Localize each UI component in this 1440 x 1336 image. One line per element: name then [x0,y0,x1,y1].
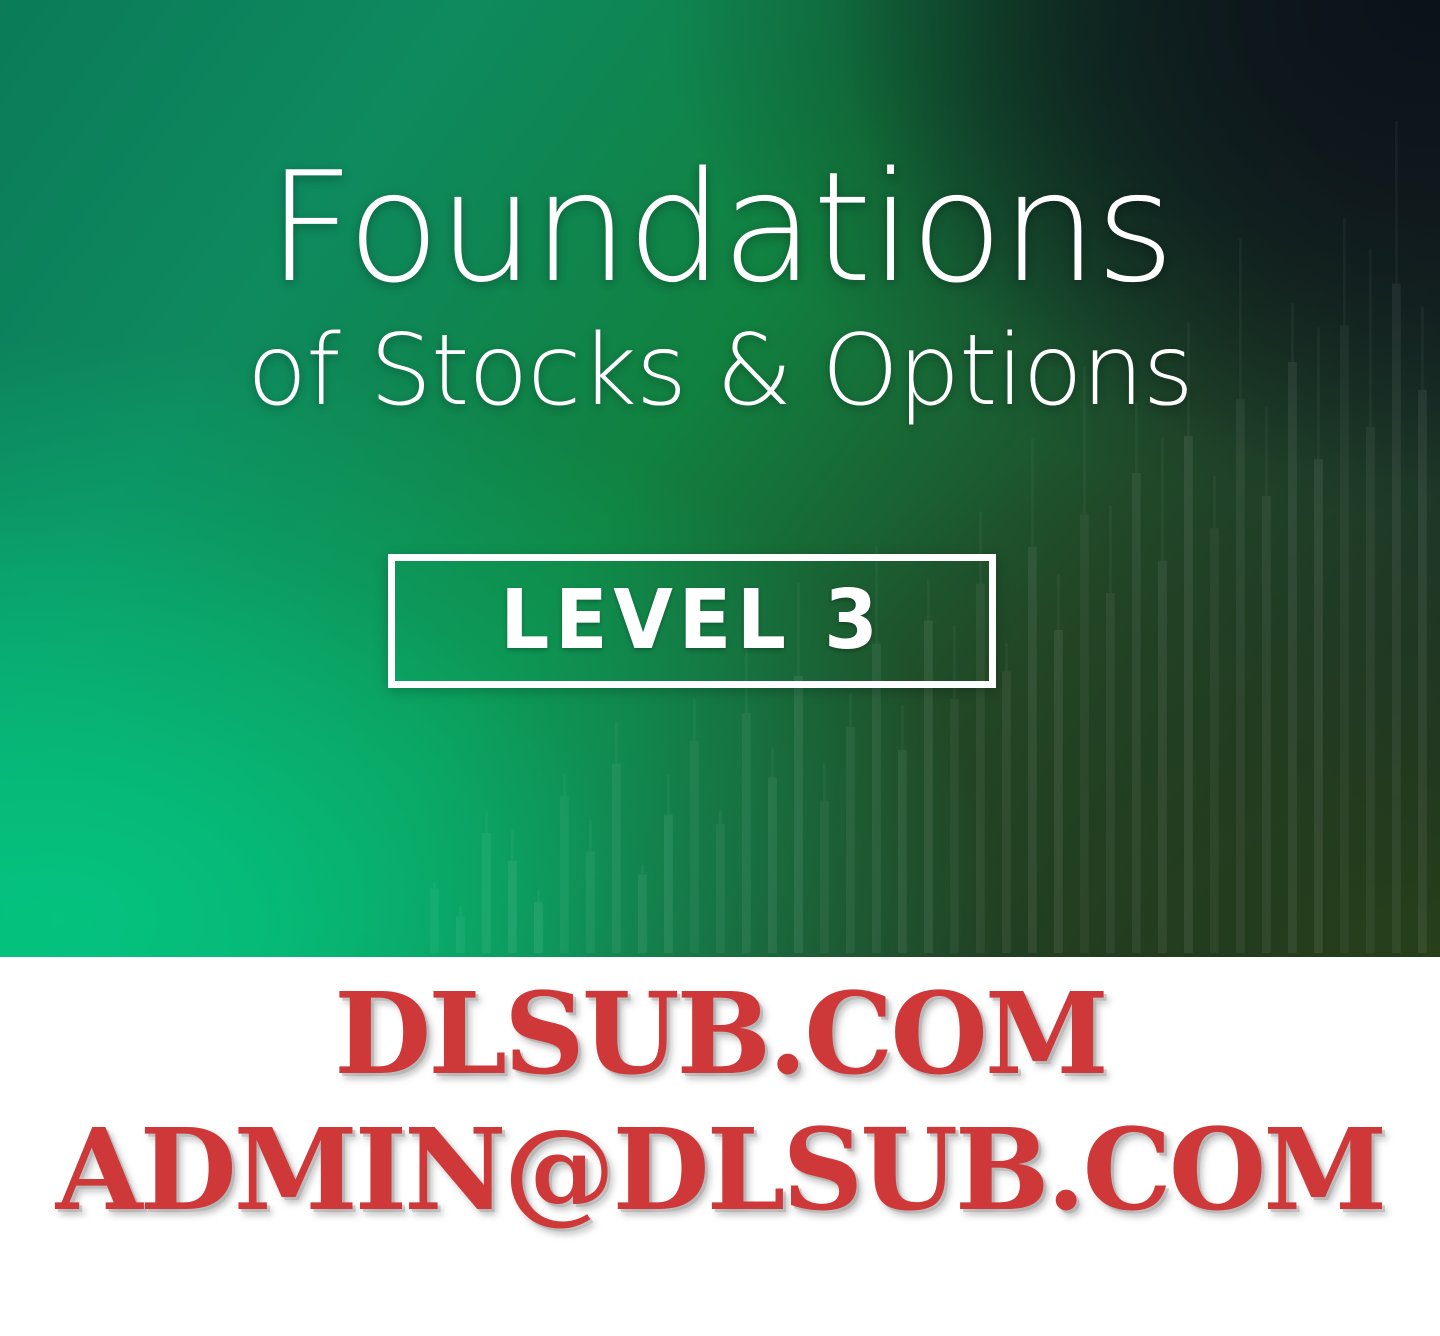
course-banner: Foundations of Stocks & Options LEVEL 3 [0,0,1440,957]
page-title: Foundations [0,152,1440,304]
watermark-site-url: DLSUB.COM [0,979,1440,1091]
course-cover-page: Foundations of Stocks & Options LEVEL 3 … [0,0,1440,1336]
watermark-area: DLSUB.COM ADMIN@DLSUB.COM [0,957,1440,1336]
watermark-email: ADMIN@DLSUB.COM [0,1115,1440,1227]
level-badge: LEVEL 3 [388,554,996,688]
level-badge-label: LEVEL 3 [500,580,883,662]
page-subtitle: of Stocks & Options [0,322,1440,420]
